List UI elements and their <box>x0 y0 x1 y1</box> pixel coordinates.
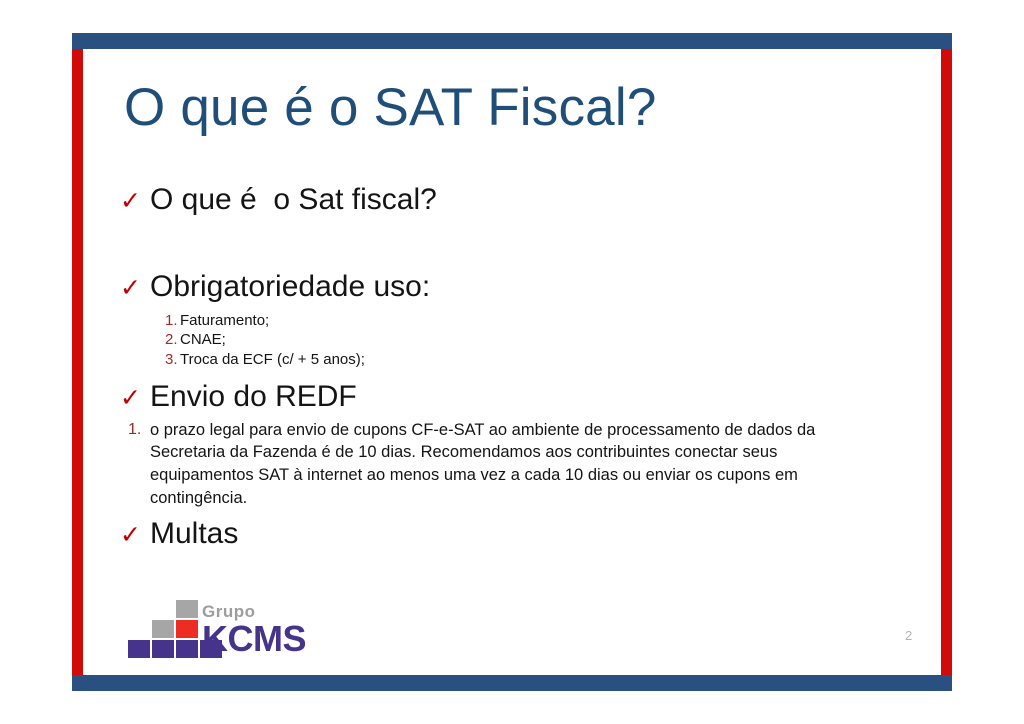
list-item-number: 2. <box>120 330 180 350</box>
paragraph-text: o prazo legal para envio de cupons CF-e-… <box>150 419 870 510</box>
slide-body: ✓ O que é o Sat fiscal? ✓ Obrigatoriedad… <box>120 182 900 551</box>
page-title: O que é o SAT Fiscal? <box>124 80 657 136</box>
bullet-label: Obrigatoriedade uso: <box>150 269 430 304</box>
list-item-number: 1. <box>120 311 180 331</box>
bullet-label: Multas <box>150 516 238 551</box>
logo-block <box>152 620 174 638</box>
frame-bottom-bar <box>72 675 952 691</box>
spacer <box>120 369 900 379</box>
logo-block <box>176 620 198 638</box>
check-icon: ✓ <box>120 276 150 301</box>
list-item: 3. Troca da ECF (c/ + 5 anos); <box>120 350 900 370</box>
bullet-item-obrigatoriedade: ✓ Obrigatoriedade uso: <box>120 269 900 304</box>
logo-block <box>176 640 198 658</box>
bullet-item-envio-redf: ✓ Envio do REDF <box>120 379 900 414</box>
numbered-sub-list: 1. Faturamento; 2. CNAE; 3. Troca da ECF… <box>120 311 900 370</box>
frame-right-bar <box>941 49 952 675</box>
logo-block <box>128 640 150 658</box>
logo-block <box>176 600 198 618</box>
check-icon: ✓ <box>120 523 150 548</box>
bullet-label: O que é o Sat fiscal? <box>150 182 437 217</box>
logo-kcms-text: KCMS <box>202 621 332 657</box>
bullet-label: Envio do REDF <box>150 379 357 414</box>
logo-kcms: Grupo KCMS <box>128 600 328 662</box>
bullet-item-multas: ✓ Multas <box>120 516 900 551</box>
logo-wordmark: Grupo KCMS <box>202 603 332 657</box>
logo-block <box>152 640 174 658</box>
spacer <box>120 217 900 269</box>
list-item-label: Troca da ECF (c/ + 5 anos); <box>180 350 365 370</box>
list-item-label: CNAE; <box>180 330 226 350</box>
check-icon: ✓ <box>120 386 150 411</box>
slide-canvas: O que é o SAT Fiscal? ✓ O que é o Sat fi… <box>0 0 1024 724</box>
paragraph-block: 1. o prazo legal para envio de cupons CF… <box>120 419 900 510</box>
page-number: 2 <box>905 628 912 643</box>
list-item: 2. CNAE; <box>120 330 900 350</box>
list-item: 1. Faturamento; <box>120 311 900 331</box>
paragraph-number: 1. <box>120 419 150 441</box>
frame-left-bar <box>72 49 83 675</box>
list-item-label: Faturamento; <box>180 311 269 331</box>
frame-top-bar <box>72 33 952 49</box>
list-item-number: 3. <box>120 350 180 370</box>
bullet-item-o-que-e: ✓ O que é o Sat fiscal? <box>120 182 900 217</box>
check-icon: ✓ <box>120 189 150 214</box>
